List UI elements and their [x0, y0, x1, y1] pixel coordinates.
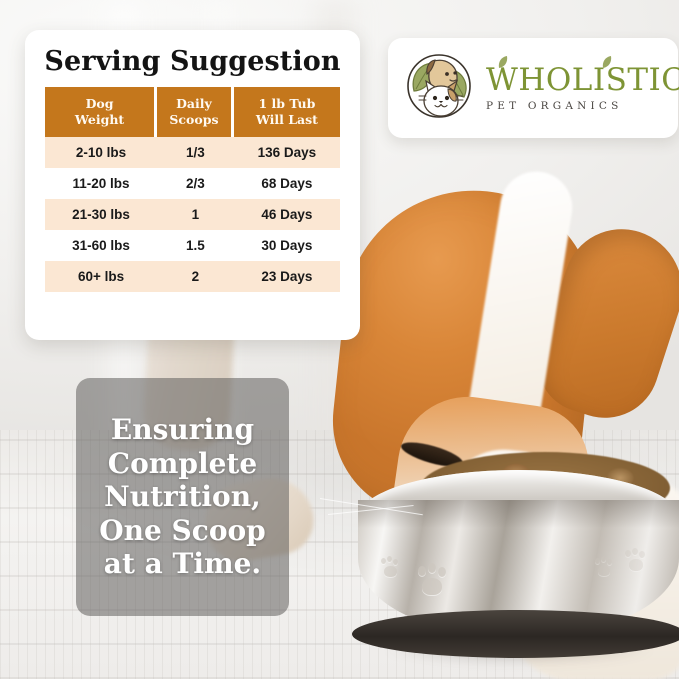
- table-header-row: Dog Weight Daily Scoops 1 lb Tub Will La…: [45, 87, 340, 137]
- cell-dog-weight: 60+ lbs: [45, 261, 157, 292]
- tagline-line: Complete: [108, 447, 257, 480]
- tagline-overlay: Ensuring Complete Nutrition, One Scoop a…: [76, 378, 289, 616]
- column-header-daily-scoops: Daily Scoops: [157, 87, 234, 137]
- leaf-accent-icon: [498, 56, 508, 69]
- cell-daily-scoops: 2: [157, 261, 234, 292]
- serving-suggestion-card: Serving Suggestion Dog Weight Daily Scoo…: [25, 30, 360, 340]
- cell-daily-scoops: 1.5: [157, 230, 234, 261]
- cell-dog-weight: 21-30 lbs: [45, 199, 157, 230]
- table-row: 2-10 lbs 1/3 136 Days: [45, 137, 340, 168]
- cell-tub-will-last: 23 Days: [234, 261, 340, 292]
- tagline-line: Ensuring: [111, 413, 254, 446]
- header-line: Daily: [176, 96, 212, 111]
- table-row: 21-30 lbs 1 46 Days: [45, 199, 340, 230]
- brand-subtitle-text: PET ORGANICS: [486, 100, 623, 112]
- brand-subtitle: PET ORGANICS ®: [486, 100, 679, 112]
- dog-and-cat-circle-logo-icon: [402, 49, 476, 128]
- paw-print-icon: [416, 566, 450, 600]
- cell-dog-weight: 31-60 lbs: [45, 230, 157, 261]
- header-line: Weight: [75, 112, 124, 127]
- table-row: 31-60 lbs 1.5 30 Days: [45, 230, 340, 261]
- cell-daily-scoops: 2/3: [157, 168, 234, 199]
- brand-wordmark-text: WHOLISTIC: [486, 62, 679, 98]
- paw-print-icon: [624, 550, 648, 574]
- cell-dog-weight: 11-20 lbs: [45, 168, 157, 199]
- header-line: Scoops: [169, 112, 218, 127]
- cell-tub-will-last: 68 Days: [234, 168, 340, 199]
- leaf-accent-icon: [602, 56, 612, 69]
- tagline-line: Nutrition,: [104, 480, 261, 513]
- brand-wordmark: WHOLISTIC: [486, 65, 679, 96]
- header-line: 1 lb Tub: [258, 96, 315, 111]
- header-line: Will Last: [256, 112, 318, 127]
- cell-dog-weight: 2-10 lbs: [45, 137, 157, 168]
- dog-bowl: [300, 452, 679, 662]
- cell-daily-scoops: 1: [157, 199, 234, 230]
- cell-tub-will-last: 46 Days: [234, 199, 340, 230]
- brand-logo-card: WHOLISTIC PET ORGANICS ®: [388, 38, 678, 138]
- serving-table: Dog Weight Daily Scoops 1 lb Tub Will La…: [45, 87, 340, 292]
- tagline-text: Ensuring Complete Nutrition, One Scoop a…: [93, 413, 272, 581]
- brand-wordmark-group: WHOLISTIC PET ORGANICS ®: [486, 65, 679, 112]
- tagline-line: One Scoop: [99, 514, 266, 547]
- table-row: 60+ lbs 2 23 Days: [45, 261, 340, 292]
- column-header-tub-will-last: 1 lb Tub Will Last: [234, 87, 340, 137]
- tagline-line: at a Time.: [104, 547, 261, 580]
- paw-print-icon: [594, 558, 614, 578]
- cell-tub-will-last: 136 Days: [234, 137, 340, 168]
- page-title: Serving Suggestion: [25, 30, 360, 87]
- cell-tub-will-last: 30 Days: [234, 230, 340, 261]
- bowl-rubber-base: [352, 610, 679, 658]
- paw-print-icon: [380, 558, 402, 580]
- table-row: 11-20 lbs 2/3 68 Days: [45, 168, 340, 199]
- column-header-dog-weight: Dog Weight: [45, 87, 157, 137]
- cell-daily-scoops: 1/3: [157, 137, 234, 168]
- product-infographic: Serving Suggestion Dog Weight Daily Scoo…: [0, 0, 679, 679]
- header-line: Dog: [86, 96, 114, 111]
